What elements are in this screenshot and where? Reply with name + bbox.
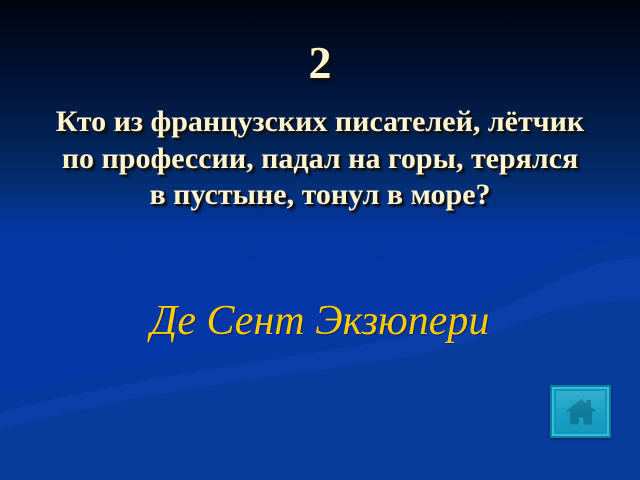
slide-canvas: 2 Кто из французских писателей, лётчик п…	[0, 0, 640, 480]
answer-text: Де Сент Экзюпери	[0, 298, 640, 344]
home-icon	[564, 397, 598, 427]
question-number: 2	[0, 40, 640, 86]
question-text: Кто из французских писателей, лётчик по …	[50, 104, 590, 214]
home-button[interactable]	[550, 385, 611, 438]
